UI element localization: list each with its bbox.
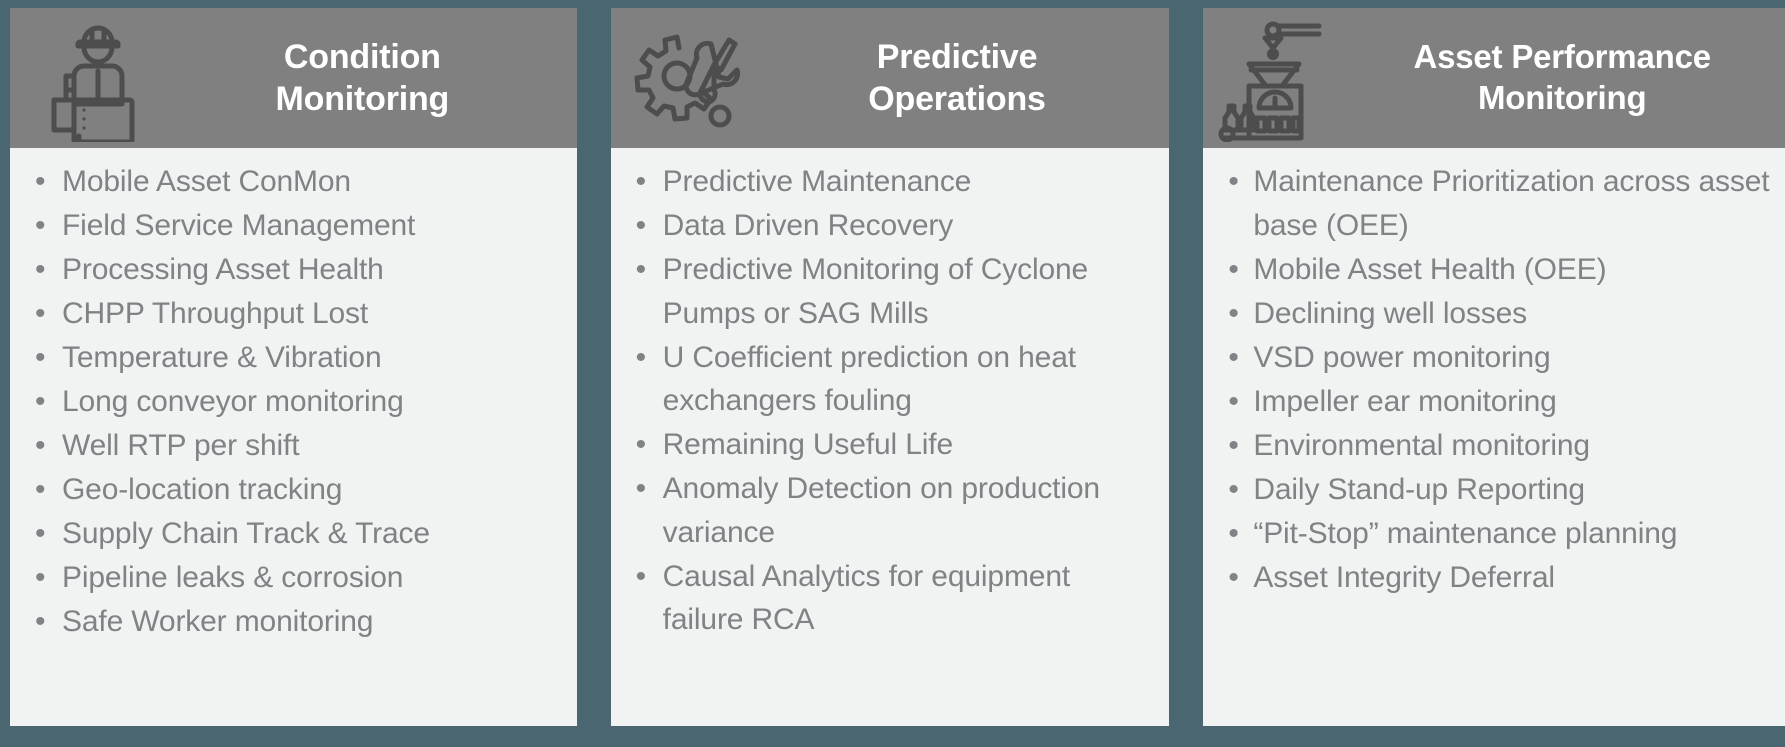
list-item-label: Data Driven Recovery bbox=[663, 209, 953, 242]
gear-wrench-screwdriver-icon bbox=[629, 14, 761, 142]
list-item-label: “Pit-Stop” maintenance planning bbox=[1253, 517, 1677, 550]
list-item: •Causal Analytics for equipment failure … bbox=[627, 555, 1156, 642]
list-item: •Mobile Asset ConMon bbox=[26, 160, 563, 204]
card-title: Condition Monitoring bbox=[164, 36, 567, 120]
card-body-predictive-operations: •Predictive Maintenance •Data Driven Rec… bbox=[611, 148, 1170, 726]
bullet-icon: • bbox=[636, 248, 646, 292]
bullet-icon: • bbox=[35, 204, 45, 248]
list-item-label: U Coefficient prediction on heat exchang… bbox=[663, 341, 1076, 418]
bullet-icon: • bbox=[1228, 424, 1238, 468]
list-item-label: Geo-location tracking bbox=[62, 473, 342, 506]
bullet-icon: • bbox=[1228, 468, 1238, 512]
list-item: •Field Service Management bbox=[26, 204, 563, 248]
list-item-label: Anomaly Detection on production variance bbox=[663, 472, 1100, 549]
list-item-label: Well RTP per shift bbox=[62, 429, 299, 462]
bullet-icon: • bbox=[1228, 160, 1238, 204]
bullet-icon: • bbox=[636, 555, 646, 599]
bullet-icon: • bbox=[35, 336, 45, 380]
list-item: •Safe Worker monitoring bbox=[26, 600, 563, 644]
bullet-icon: • bbox=[35, 380, 45, 424]
bullet-icon: • bbox=[636, 467, 646, 511]
bullet-icon: • bbox=[636, 160, 646, 204]
bullet-icon: • bbox=[35, 600, 45, 644]
card-header-condition-monitoring: Condition Monitoring bbox=[10, 8, 577, 148]
bullet-icon: • bbox=[35, 556, 45, 600]
bullet-icon: • bbox=[1228, 292, 1238, 336]
list-item-label: Temperature & Vibration bbox=[62, 341, 382, 374]
card-title: Asset Performance Monitoring bbox=[1355, 37, 1775, 119]
list-item: •Well RTP per shift bbox=[26, 424, 563, 468]
list-item: •Pipeline leaks & corrosion bbox=[26, 556, 563, 600]
bullet-icon: • bbox=[35, 248, 45, 292]
list-item-label: Maintenance Prioritization across asset … bbox=[1253, 165, 1769, 242]
production-line-gauge-icon bbox=[1215, 14, 1355, 142]
list-item: •Impeller ear monitoring bbox=[1219, 380, 1771, 424]
list-item: •Declining well losses bbox=[1219, 292, 1771, 336]
card-predictive-operations: Predictive Operations •Predictive Mainte… bbox=[611, 8, 1170, 726]
list-item: •Processing Asset Health bbox=[26, 248, 563, 292]
bullet-icon: • bbox=[35, 512, 45, 556]
list-item-label: VSD power monitoring bbox=[1253, 341, 1550, 374]
list-item-label: Safe Worker monitoring bbox=[62, 605, 373, 638]
list-item: •Anomaly Detection on production varianc… bbox=[627, 467, 1156, 554]
card-title: Predictive Operations bbox=[761, 36, 1160, 120]
list-item: •Data Driven Recovery bbox=[627, 204, 1156, 248]
card-header-asset-performance-monitoring: Asset Performance Monitoring bbox=[1203, 8, 1785, 148]
list-item-label: Declining well losses bbox=[1253, 297, 1527, 330]
worker-with-tablet-icon bbox=[32, 14, 164, 142]
list-item-label: Predictive Maintenance bbox=[663, 165, 972, 198]
list-item: •Geo-location tracking bbox=[26, 468, 563, 512]
list-item: •VSD power monitoring bbox=[1219, 336, 1771, 380]
list-item-label: Remaining Useful Life bbox=[663, 428, 953, 461]
three-column-capability-board: Condition Monitoring •Mobile Asset ConMo… bbox=[0, 0, 1785, 747]
list-item-label: Field Service Management bbox=[62, 209, 415, 242]
list-item: •CHPP Throughput Lost bbox=[26, 292, 563, 336]
bullet-icon: • bbox=[1228, 556, 1238, 600]
bullet-icon: • bbox=[636, 423, 646, 467]
bullet-icon: • bbox=[35, 160, 45, 204]
list-item-label: Long conveyor monitoring bbox=[62, 385, 404, 418]
bullet-list: •Predictive Maintenance •Data Driven Rec… bbox=[627, 160, 1156, 642]
list-item-label: Causal Analytics for equipment failure R… bbox=[663, 560, 1070, 637]
bullet-icon: • bbox=[35, 424, 45, 468]
list-item-label: CHPP Throughput Lost bbox=[62, 297, 368, 330]
list-item-label: Pipeline leaks & corrosion bbox=[62, 561, 403, 594]
card-header-predictive-operations: Predictive Operations bbox=[611, 8, 1170, 148]
card-asset-performance-monitoring: Asset Performance Monitoring •Maintenanc… bbox=[1203, 8, 1785, 726]
list-item: •Asset Integrity Deferral bbox=[1219, 556, 1771, 600]
bullet-list: •Maintenance Prioritization across asset… bbox=[1219, 160, 1771, 599]
list-item: •Mobile Asset Health (OEE) bbox=[1219, 248, 1771, 292]
list-item-label: Daily Stand-up Reporting bbox=[1253, 473, 1585, 506]
bullet-icon: • bbox=[35, 468, 45, 512]
bullet-icon: • bbox=[1228, 512, 1238, 556]
card-condition-monitoring: Condition Monitoring •Mobile Asset ConMo… bbox=[10, 8, 577, 726]
list-item-label: Processing Asset Health bbox=[62, 253, 384, 286]
list-item: •U Coefficient prediction on heat exchan… bbox=[627, 336, 1156, 423]
list-item: •Maintenance Prioritization across asset… bbox=[1219, 160, 1771, 247]
list-item: •Remaining Useful Life bbox=[627, 423, 1156, 467]
bullet-icon: • bbox=[1228, 336, 1238, 380]
bullet-icon: • bbox=[35, 292, 45, 336]
list-item-label: Mobile Asset ConMon bbox=[62, 165, 351, 198]
list-item: •Predictive Monitoring of Cyclone Pumps … bbox=[627, 248, 1156, 335]
list-item-label: Predictive Monitoring of Cyclone Pumps o… bbox=[663, 253, 1088, 330]
bullet-icon: • bbox=[1228, 248, 1238, 292]
list-item: •Long conveyor monitoring bbox=[26, 380, 563, 424]
list-item: •Environmental monitoring bbox=[1219, 424, 1771, 468]
bullet-list: •Mobile Asset ConMon •Field Service Mana… bbox=[26, 160, 563, 644]
bullet-icon: • bbox=[636, 204, 646, 248]
bullet-icon: • bbox=[1228, 380, 1238, 424]
list-item-label: Environmental monitoring bbox=[1253, 429, 1590, 462]
card-body-asset-performance-monitoring: •Maintenance Prioritization across asset… bbox=[1203, 148, 1785, 726]
list-item-label: Mobile Asset Health (OEE) bbox=[1253, 253, 1606, 286]
bullet-icon: • bbox=[636, 336, 646, 380]
list-item: •Temperature & Vibration bbox=[26, 336, 563, 380]
list-item: •“Pit-Stop” maintenance planning bbox=[1219, 512, 1771, 556]
list-item: •Predictive Maintenance bbox=[627, 160, 1156, 204]
card-body-condition-monitoring: •Mobile Asset ConMon •Field Service Mana… bbox=[10, 148, 577, 726]
list-item-label: Supply Chain Track & Trace bbox=[62, 517, 430, 550]
list-item-label: Impeller ear monitoring bbox=[1253, 385, 1556, 418]
list-item: •Supply Chain Track & Trace bbox=[26, 512, 563, 556]
list-item: •Daily Stand-up Reporting bbox=[1219, 468, 1771, 512]
list-item-label: Asset Integrity Deferral bbox=[1253, 561, 1555, 594]
